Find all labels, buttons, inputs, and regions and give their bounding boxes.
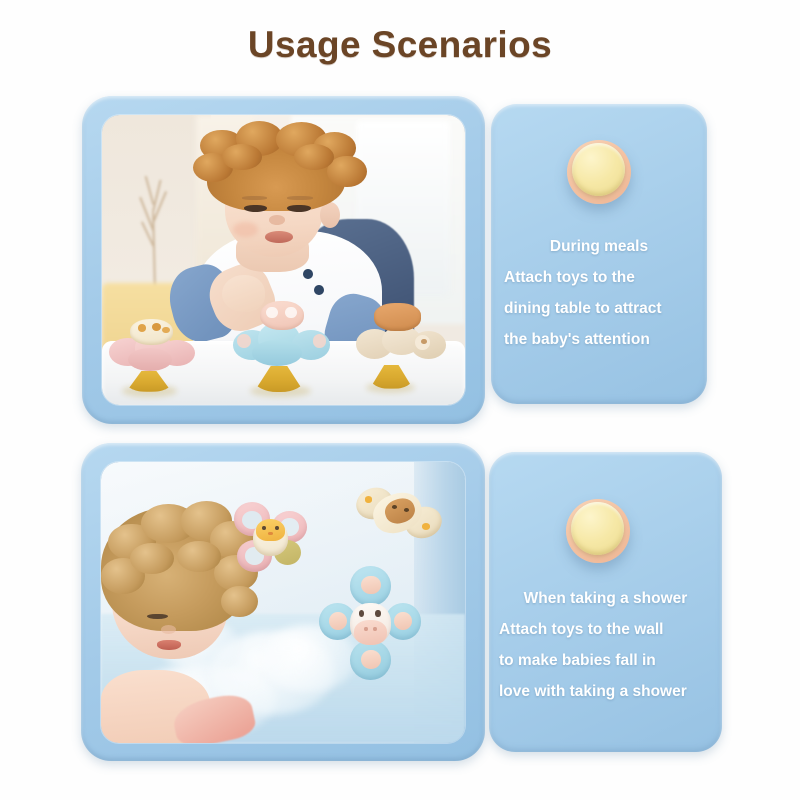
photo-frame-taking-a-shower <box>101 462 465 743</box>
text-card-taking-a-shower: When taking a shower Attach toys to the … <box>489 452 722 752</box>
photo-frame-during-meals <box>102 115 465 405</box>
photo-card-taking-a-shower <box>81 443 485 761</box>
toy-blue-flower-spinner <box>233 295 338 394</box>
scenario-body-line: dining table to attract <box>504 293 707 324</box>
scenario-body-line: to make babies fall in <box>499 645 722 676</box>
toy-pink-flower-spinner <box>109 312 203 393</box>
scenario-headline: When taking a shower <box>489 583 722 614</box>
photo-taking-a-shower <box>101 462 465 743</box>
branch-decor <box>135 156 171 289</box>
scenario-body-line: Attach toys to the <box>504 262 707 293</box>
toy-cream-bear-spinner <box>356 298 454 391</box>
suction-button-icon <box>567 140 631 204</box>
page-title: Usage Scenarios <box>0 24 800 66</box>
toy-blue-cow-spinner <box>319 566 421 690</box>
toy-pink-chick-spinner <box>232 496 312 580</box>
scenario-body-line: the baby's attention <box>504 324 707 355</box>
photo-card-during-meals <box>82 96 485 424</box>
scenario-body-line: Attach toys to the wall <box>499 614 722 645</box>
scenario-headline: During meals <box>491 231 707 262</box>
suction-button-icon <box>566 499 630 563</box>
text-card-during-meals: During meals Attach toys to the dining t… <box>491 104 707 404</box>
toy-cream-bear-spinner <box>356 482 443 549</box>
photo-during-meals <box>102 115 465 405</box>
scenario-body-line: love with taking a shower <box>499 676 722 707</box>
